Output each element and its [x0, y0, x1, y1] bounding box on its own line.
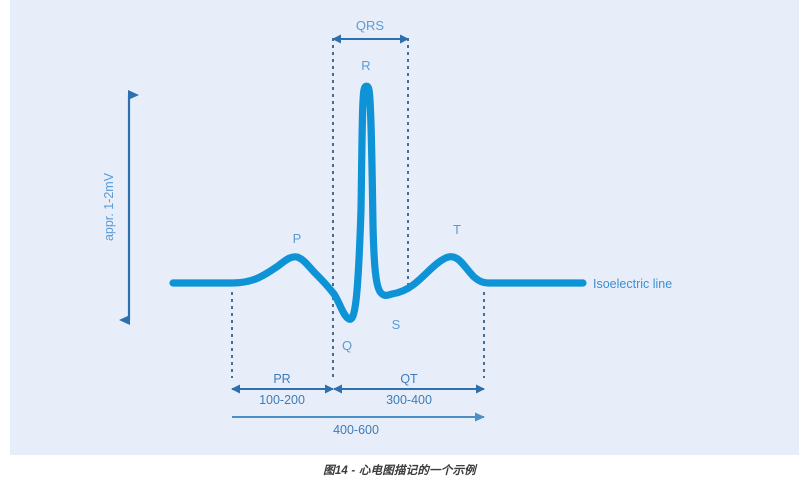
wave-label-t: T [453, 222, 461, 237]
interval-pr-value: 100-200 [259, 393, 305, 407]
qrs-label: QRS [356, 18, 385, 33]
wave-labels: P R Q S T [293, 58, 461, 353]
ecg-figure: appr. 1-2mV QRS P R Q S T Isoelectri [0, 0, 799, 498]
isoelectric-callout: Isoelectric line [593, 277, 672, 291]
wave-label-s: S [392, 317, 401, 332]
interval-qt-value: 300-400 [386, 393, 432, 407]
interval-rr-value: 400-600 [333, 423, 379, 437]
qrs-annotation: QRS [333, 18, 408, 39]
interval-rr: 400-600 [232, 417, 484, 437]
interval-pr-label: PR [273, 372, 290, 386]
interval-qt-label: QT [400, 372, 418, 386]
ecg-trace-path [173, 86, 583, 319]
amplitude-axis-label: appr. 1-2mV [102, 172, 116, 241]
isoelectric-label: Isoelectric line [593, 277, 672, 291]
interval-qt: QT 300-400 [334, 372, 484, 407]
ecg-diagram-svg: appr. 1-2mV QRS P R Q S T Isoelectri [0, 0, 799, 455]
amplitude-axis: appr. 1-2mV [102, 95, 129, 320]
interval-pr: PR 100-200 [232, 372, 333, 407]
ecg-waveform [173, 86, 583, 319]
figure-caption: 图14 - 心电图描记的一个示例 [0, 462, 799, 478]
wave-label-q: Q [342, 338, 352, 353]
wave-label-r: R [361, 58, 370, 73]
wave-label-p: P [293, 231, 302, 246]
